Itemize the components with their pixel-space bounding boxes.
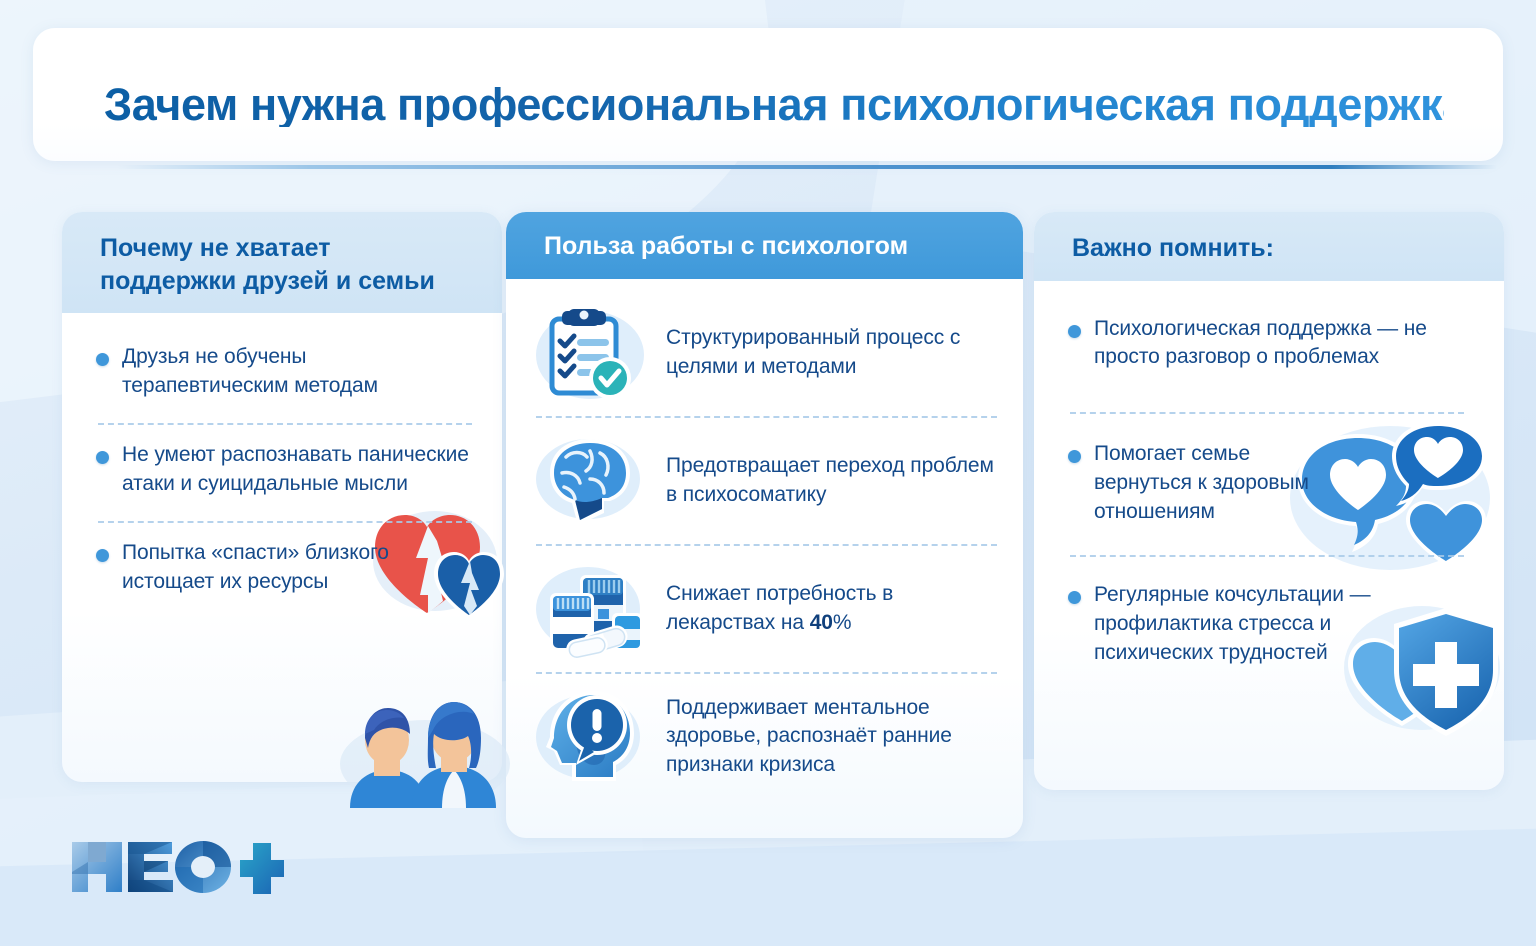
- feature-unit: %: [833, 611, 852, 634]
- list-item-label: Не умеют распознавать панические атаки и…: [122, 441, 476, 499]
- list-item-label: Психологическая поддержка — не просто ра…: [1094, 315, 1468, 373]
- list-item-label: Регулярные кочсультации — профилактика с…: [1094, 581, 1394, 668]
- feature-row: Предотвращает переход проблем в психосом…: [506, 425, 1023, 537]
- divider: [536, 544, 997, 546]
- feature-label: Предотвращает переход проблем в психосом…: [666, 452, 1001, 509]
- column-why-friends-not-enough: Почему не хватает поддержки друзей и сем…: [62, 212, 502, 782]
- infographic-root: Зачем нужна профессиональная психологиче…: [0, 0, 1536, 946]
- divider: [98, 423, 472, 425]
- brain-icon: [532, 429, 648, 533]
- divider: [1070, 412, 1464, 414]
- bullet-dot-icon: [96, 353, 109, 366]
- list-item: Друзья не обучены терапевтическим метода…: [96, 343, 476, 407]
- feature-label-text: Снижает потребность в лекарствах на: [666, 582, 893, 634]
- divider: [98, 521, 472, 523]
- list-item-label: Помогает семье вернуться к здоровым отно…: [1094, 440, 1326, 527]
- middle-column-header: Польза работы с психологом: [506, 212, 1023, 279]
- feature-row: Снижает потребность в лекарствах на 40%: [506, 553, 1023, 665]
- right-column-title: Важно помнить:: [1072, 232, 1274, 265]
- column-important-to-remember: Важно помнить: Психологическая поддержка…: [1034, 212, 1504, 790]
- brand-logo: [66, 832, 296, 910]
- feature-label: Поддерживает ментальное здоровье, распоз…: [666, 694, 1001, 780]
- page-title: Зачем нужна профессиональная психологиче…: [104, 82, 1444, 127]
- list-item-label: Попытка «спасти» близкого истощает их ре…: [122, 539, 476, 597]
- bullet-dot-icon: [96, 451, 109, 464]
- left-column-header: Почему не хватает поддержки друзей и сем…: [62, 212, 502, 313]
- clipboard-check-icon: [532, 301, 648, 405]
- divider: [1070, 555, 1464, 557]
- left-column-title: Почему не хватает поддержки друзей и сем…: [100, 232, 472, 297]
- list-item: Не умеют распознавать панические атаки и…: [96, 441, 476, 505]
- bullet-dot-icon: [1068, 325, 1081, 338]
- head-alert-icon: [532, 685, 648, 789]
- feature-label: Снижает потребность в лекарствах на 40%: [666, 580, 1001, 637]
- right-column-header: Важно помнить:: [1034, 212, 1504, 281]
- list-item: Психологическая поддержка — не просто ра…: [1068, 315, 1468, 379]
- divider: [536, 672, 997, 674]
- title-card: Зачем нужна профессиональная психологиче…: [33, 28, 1503, 161]
- feature-label: Структурированный процесс с целями и мет…: [666, 324, 1001, 381]
- bullet-dot-icon: [96, 549, 109, 562]
- list-item: Попытка «спасти» близкого истощает их ре…: [96, 539, 476, 603]
- list-item: Регулярные кочсультации — профилактика с…: [1068, 581, 1468, 674]
- right-column-list: Психологическая поддержка — не просто ра…: [1034, 281, 1504, 675]
- middle-column-list: Структурированный процесс с целями и мет…: [506, 279, 1023, 793]
- bullet-dot-icon: [1068, 591, 1081, 604]
- column-benefits: Польза работы с психологом: [506, 212, 1023, 838]
- feature-value: 40: [810, 611, 833, 634]
- title-underline: [117, 165, 1497, 169]
- list-item: Помогает семье вернуться к здоровым отно…: [1068, 440, 1468, 533]
- middle-column-title: Польза работы с психологом: [544, 230, 908, 263]
- list-item-label: Друзья не обучены терапевтическим метода…: [122, 343, 476, 401]
- divider: [536, 416, 997, 418]
- feature-row: Поддерживает ментальное здоровье, распоз…: [506, 681, 1023, 793]
- left-column-list: Друзья не обучены терапевтическим метода…: [62, 313, 502, 603]
- bullet-dot-icon: [1068, 450, 1081, 463]
- feature-row: Структурированный процесс с целями и мет…: [506, 297, 1023, 409]
- pills-icon: [532, 557, 648, 661]
